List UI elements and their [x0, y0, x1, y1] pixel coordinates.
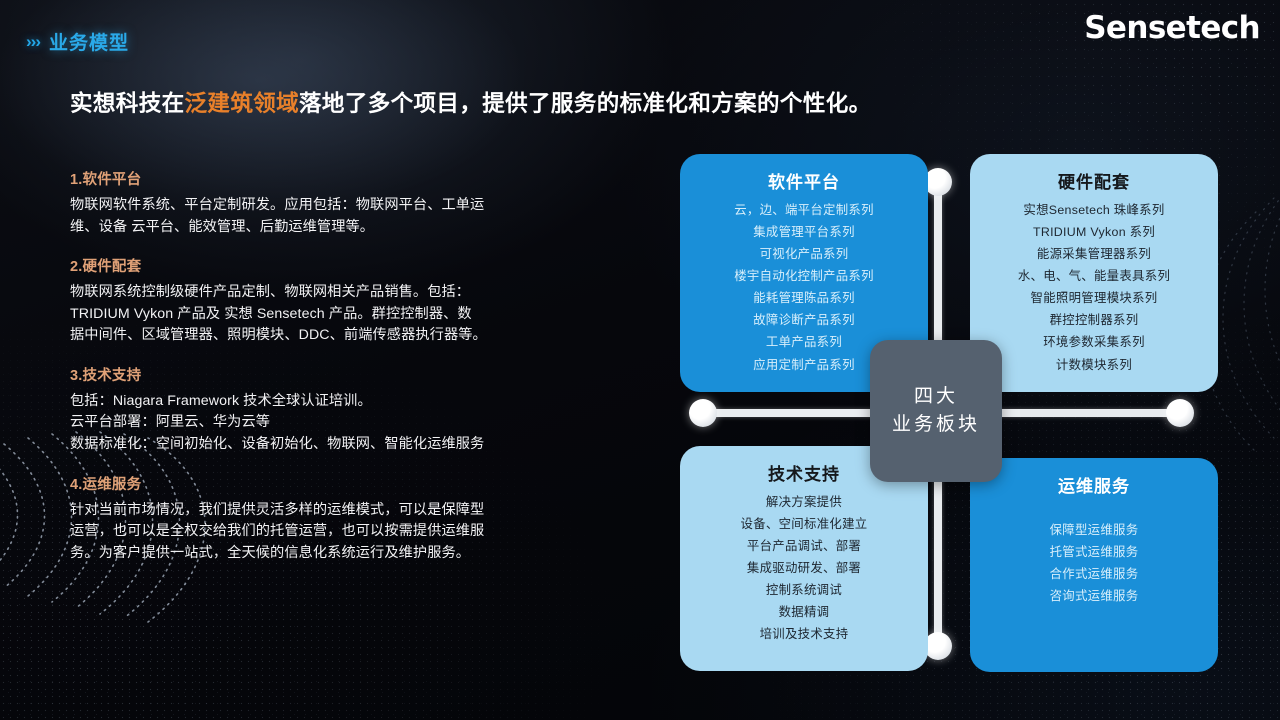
- list-item: 智能照明管理模块系列: [982, 287, 1206, 309]
- section-title: 3.技术支持: [70, 364, 600, 385]
- section-body: 物联网软件系统、平台定制研发。应用包括：物联网平台、工单运 维、设备 云平台、能…: [70, 195, 600, 238]
- card-title: 硬件配套: [982, 168, 1206, 193]
- list-item: 数据精调: [692, 601, 916, 623]
- business-diagram: 软件平台 云，边、端平台定制系列 集成管理平台系列 可视化产品系列 楼宇自动化控…: [648, 140, 1258, 685]
- card-item-list: 实想Sensetech 珠峰系列 TRIDIUM Vykon 系列 能源采集管理…: [982, 199, 1206, 376]
- section-title: 4.运维服务: [70, 473, 600, 494]
- card-title: 软件平台: [692, 168, 916, 193]
- connector-knob-bottom: [924, 632, 952, 660]
- section-line: 物联网系统控制级硬件产品定制、物联网相关产品销售。包括：: [70, 282, 600, 304]
- list-item: 可视化产品系列: [692, 243, 916, 265]
- list-item: 故障诊断产品系列: [692, 309, 916, 331]
- section-line: 数据标准化：空间初始化、设备初始化、物联网、智能化运维服务: [70, 434, 600, 456]
- hub-line-2: 业务板块: [892, 411, 980, 440]
- section-line: 务。为客户提供一站式，全天候的信息化系统运行及维护服务。: [70, 543, 600, 565]
- hub-line-1: 四大: [914, 383, 958, 412]
- section-line: 据中间件、区域管理器、照明模块、DDC、前端传感器执行器等。: [70, 325, 600, 347]
- chevrons-icon: ›››: [26, 33, 40, 50]
- brand-logo: Sensetech: [1084, 10, 1260, 46]
- card-hardware-package[interactable]: 硬件配套 实想Sensetech 珠峰系列 TRIDIUM Vykon 系列 能…: [970, 154, 1218, 392]
- list-item: 云，边、端平台定制系列: [692, 199, 916, 221]
- list-item: 解决方案提供: [692, 491, 916, 513]
- list-item: 集成管理平台系列: [692, 221, 916, 243]
- connector-knob-top: [924, 168, 952, 196]
- headline-part-1: 实想科技在: [70, 91, 185, 116]
- list-item: 能耗管理陈品系列: [692, 287, 916, 309]
- list-item: 集成驱动研发、部署: [692, 557, 916, 579]
- list-item: 合作式运维服务: [982, 563, 1206, 585]
- section-title: 2.硬件配套: [70, 255, 600, 276]
- headline-highlight: 泛建筑领域: [185, 91, 300, 116]
- section-body: 针对当前市场情况，我们提供灵活多样的运维模式，可以是保障型 运营，也可以是全权交…: [70, 500, 600, 565]
- list-item: TRIDIUM Vykon 系列: [982, 221, 1206, 243]
- list-item: 平台产品调试、部署: [692, 535, 916, 557]
- section-block-3: 3.技术支持 包括：Niagara Framework 技术全球认证培训。 云平…: [70, 364, 600, 456]
- list-item: 水、电、气、能量表具系列: [982, 265, 1206, 287]
- section-kicker-label: 业务模型: [49, 28, 129, 55]
- section-line: 运营，也可以是全权交给我们的托管运营，也可以按需提供运维服: [70, 521, 600, 543]
- section-line: 针对当前市场情况，我们提供灵活多样的运维模式，可以是保障型: [70, 500, 600, 522]
- section-title: 1.软件平台: [70, 168, 600, 189]
- card-title: 运维服务: [982, 472, 1206, 497]
- section-line: 维、设备 云平台、能效管理、后勤运维管理等。: [70, 217, 600, 239]
- section-body: 物联网系统控制级硬件产品定制、物联网相关产品销售。包括： TRIDIUM Vyk…: [70, 282, 600, 347]
- list-item: 控制系统调试: [692, 579, 916, 601]
- list-item: 实想Sensetech 珠峰系列: [982, 199, 1206, 221]
- connector-knob-left: [689, 399, 717, 427]
- list-item: 咨询式运维服务: [982, 585, 1206, 607]
- list-item: 托管式运维服务: [982, 541, 1206, 563]
- section-line: 物联网软件系统、平台定制研发。应用包括：物联网平台、工单运: [70, 195, 600, 217]
- list-item: 环境参数采集系列: [982, 331, 1206, 353]
- list-item: 设备、空间标准化建立: [692, 513, 916, 535]
- section-line: TRIDIUM Vykon 产品及 实想 Sensetech 产品。群控控制器、…: [70, 304, 600, 326]
- card-item-list: 保障型运维服务 托管式运维服务 合作式运维服务 咨询式运维服务: [982, 519, 1206, 607]
- list-item: 计数模块系列: [982, 354, 1206, 376]
- section-line: 包括：Niagara Framework 技术全球认证培训。: [70, 391, 600, 413]
- section-line: 云平台部署：阿里云、华为云等: [70, 412, 600, 434]
- list-item: 保障型运维服务: [982, 519, 1206, 541]
- list-item: 楼宇自动化控制产品系列: [692, 265, 916, 287]
- list-item: 群控控制器系列: [982, 309, 1206, 331]
- card-operations-service[interactable]: 运维服务 保障型运维服务 托管式运维服务 合作式运维服务 咨询式运维服务: [970, 458, 1218, 672]
- section-body: 包括：Niagara Framework 技术全球认证培训。 云平台部署：阿里云…: [70, 391, 600, 456]
- list-item: 能源采集管理器系列: [982, 243, 1206, 265]
- left-content-column: 1.软件平台 物联网软件系统、平台定制研发。应用包括：物联网平台、工单运 维、设…: [70, 168, 600, 581]
- connector-knob-right: [1166, 399, 1194, 427]
- slide-root: ››› 业务模型 Sensetech 实想科技在泛建筑领域落地了多个项目，提供了…: [0, 0, 1280, 720]
- list-item: 培训及技术支持: [692, 623, 916, 645]
- section-block-4: 4.运维服务 针对当前市场情况，我们提供灵活多样的运维模式，可以是保障型 运营，…: [70, 473, 600, 565]
- breadcrumb: ››› 业务模型: [26, 28, 129, 55]
- diagram-center-hub[interactable]: 四大 业务板块: [870, 340, 1002, 482]
- page-title: 实想科技在泛建筑领域落地了多个项目，提供了服务的标准化和方案的个性化。: [70, 86, 872, 118]
- section-block-2: 2.硬件配套 物联网系统控制级硬件产品定制、物联网相关产品销售。包括： TRID…: [70, 255, 600, 347]
- card-item-list: 解决方案提供 设备、空间标准化建立 平台产品调试、部署 集成驱动研发、部署 控制…: [692, 491, 916, 646]
- section-block-1: 1.软件平台 物联网软件系统、平台定制研发。应用包括：物联网平台、工单运 维、设…: [70, 168, 600, 238]
- headline-part-2: 落地了多个项目，提供了服务的标准化和方案的个性化。: [299, 91, 872, 116]
